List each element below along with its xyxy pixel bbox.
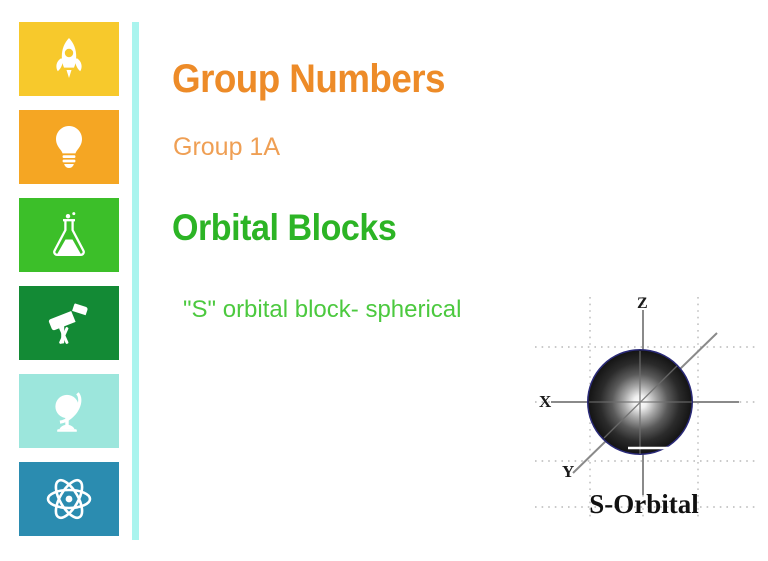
accent-bar	[132, 22, 139, 540]
axis-label-x: X	[539, 392, 552, 411]
sidebar-tile-atom[interactable]	[19, 462, 119, 536]
sidebar-tile-telescope[interactable]	[19, 286, 119, 360]
axis-label-z: Z	[637, 295, 648, 312]
heading-orbital-blocks: Orbital Blocks	[172, 207, 396, 249]
heading-group-numbers: Group Numbers	[172, 57, 445, 102]
icon-sidebar	[19, 22, 119, 540]
flask-icon	[49, 211, 89, 259]
lightbulb-icon	[50, 124, 88, 170]
rocket-icon	[48, 36, 90, 82]
s-orbital-diagram: X Y Z S-Orbital	[527, 285, 763, 530]
telescope-icon	[45, 301, 93, 345]
atom-icon	[45, 477, 93, 521]
sidebar-tile-globe[interactable]	[19, 374, 119, 448]
subtext-group-1a: Group 1A	[173, 133, 280, 162]
sidebar-tile-flask[interactable]	[19, 198, 119, 272]
diagram-caption: S-Orbital	[589, 489, 699, 519]
sidebar-tile-lightbulb[interactable]	[19, 110, 119, 184]
sidebar-tile-rocket[interactable]	[19, 22, 119, 96]
axis-label-y: Y	[562, 462, 574, 481]
subtext-s-orbital-block: "S" orbital block- spherical	[183, 296, 461, 324]
globe-icon	[47, 388, 91, 434]
